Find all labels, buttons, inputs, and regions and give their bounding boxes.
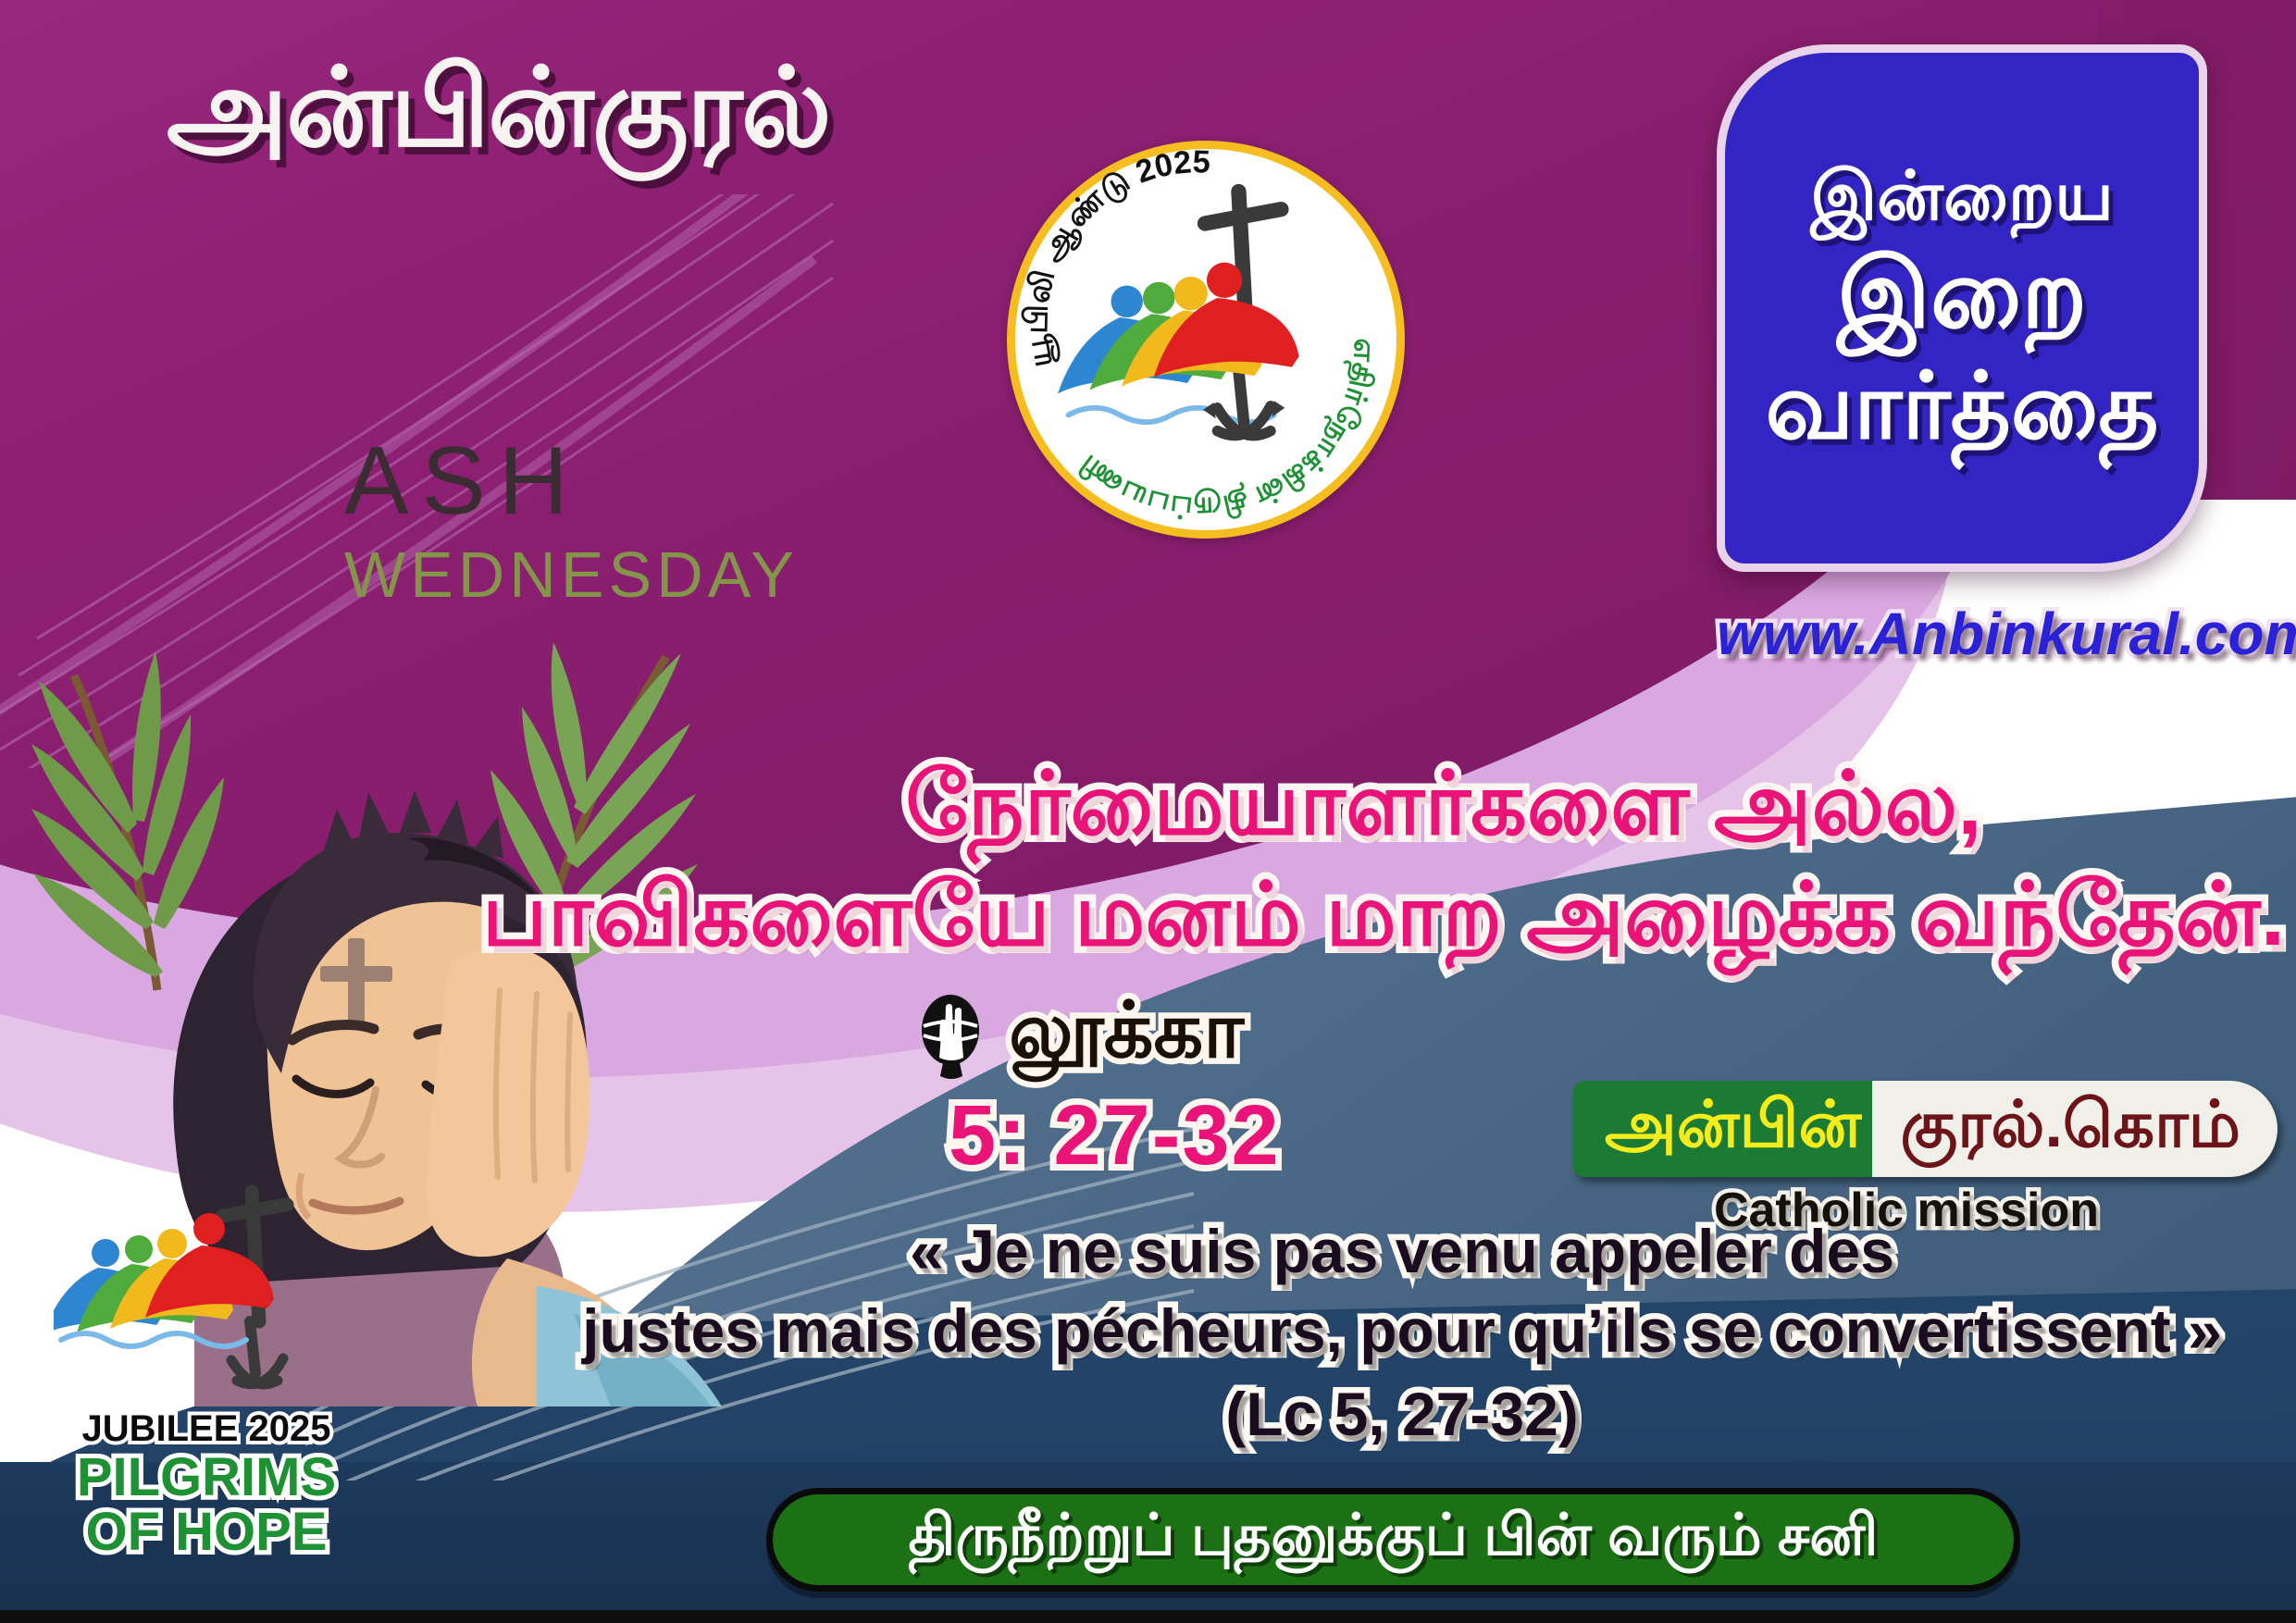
poster-canvas: அன்பின்குரல் யூபிலி ஆண்டு 2025 எதிர்நோக்… <box>0 0 2296 1623</box>
jubilee-emblem-graphic: யூபிலி ஆண்டு 2025 எதிர்நோக்கின் திருப்பய… <box>1015 149 1396 530</box>
verse-line-2: பாவிகளையே மனம் மாற அழைக்க வந்தேன். <box>481 861 2286 972</box>
badge-line-1: இன்றைய <box>1810 158 2114 235</box>
logo-white-text: குரல்.கொம் <box>1872 1081 2277 1177</box>
footer-banner: திருநீற்றுப் புதனுக்குப் பின் வரும் சனி <box>766 1488 2020 1592</box>
french-citation: (Lc 5, 27-32) <box>574 1375 2230 1455</box>
bible-verse-tamil: நேர்மையாளர்களை அல்ல, பாவிகளையே மனம் மாற … <box>481 750 2286 971</box>
website-url[interactable]: www.Anbinkural.com <box>1717 600 2216 668</box>
pilgrims-of-hope-logo: JUBILEE 2025 PILGRIMS OF HOPE <box>54 1183 359 1559</box>
pilgrims-line-1: JUBILEE 2025 <box>54 1408 359 1450</box>
todays-word-badge: இன்றைய இறை வார்த்தை <box>1717 44 2207 572</box>
badge-line-3: வார்த்தை <box>1765 354 2158 458</box>
page-title: அன்பின்குரல் <box>167 46 830 172</box>
pilgrims-of-hope-graphic <box>54 1183 359 1414</box>
french-line-1: « Je ne suis pas venu appeler des <box>574 1212 2230 1292</box>
bible-verse-french: « Je ne suis pas venu appeler des justes… <box>574 1212 2230 1454</box>
badge-line-2: இறை <box>1837 241 2087 348</box>
logo-green-text: அன்பின் <box>1573 1081 1885 1177</box>
verse-line-1: நேர்மையாளர்களை அல்ல, <box>602 750 2286 861</box>
anbinkural-logo-bar: அன்பின் குரல்.கொம் <box>1573 1081 2240 1177</box>
reference-book-name: லூக்கா <box>1009 985 1244 1086</box>
pilgrims-line-2: PILGRIMS <box>54 1450 359 1505</box>
scripture-reference: லூக்கா <box>916 985 1244 1086</box>
french-line-2: justes mais des pécheurs, pour qu’ils se… <box>574 1292 2230 1371</box>
blessing-hand-icon <box>916 993 985 1080</box>
bottom-black-rule <box>0 1610 2296 1623</box>
footer-banner-text: திருநீற்றுப் புதனுக்குப் பின் வரும் சனி <box>909 1503 1879 1577</box>
pilgrims-line-3: OF HOPE <box>54 1505 359 1559</box>
palm-frond-left <box>31 651 224 990</box>
jubilee-2025-emblem: யூபிலி ஆண்டு 2025 எதிர்நோக்கின் திருப்பய… <box>1007 141 1405 539</box>
reference-chapter-verses: 5: 27-32 <box>949 1087 1281 1184</box>
ash-label-line-1: ASH <box>344 433 799 529</box>
